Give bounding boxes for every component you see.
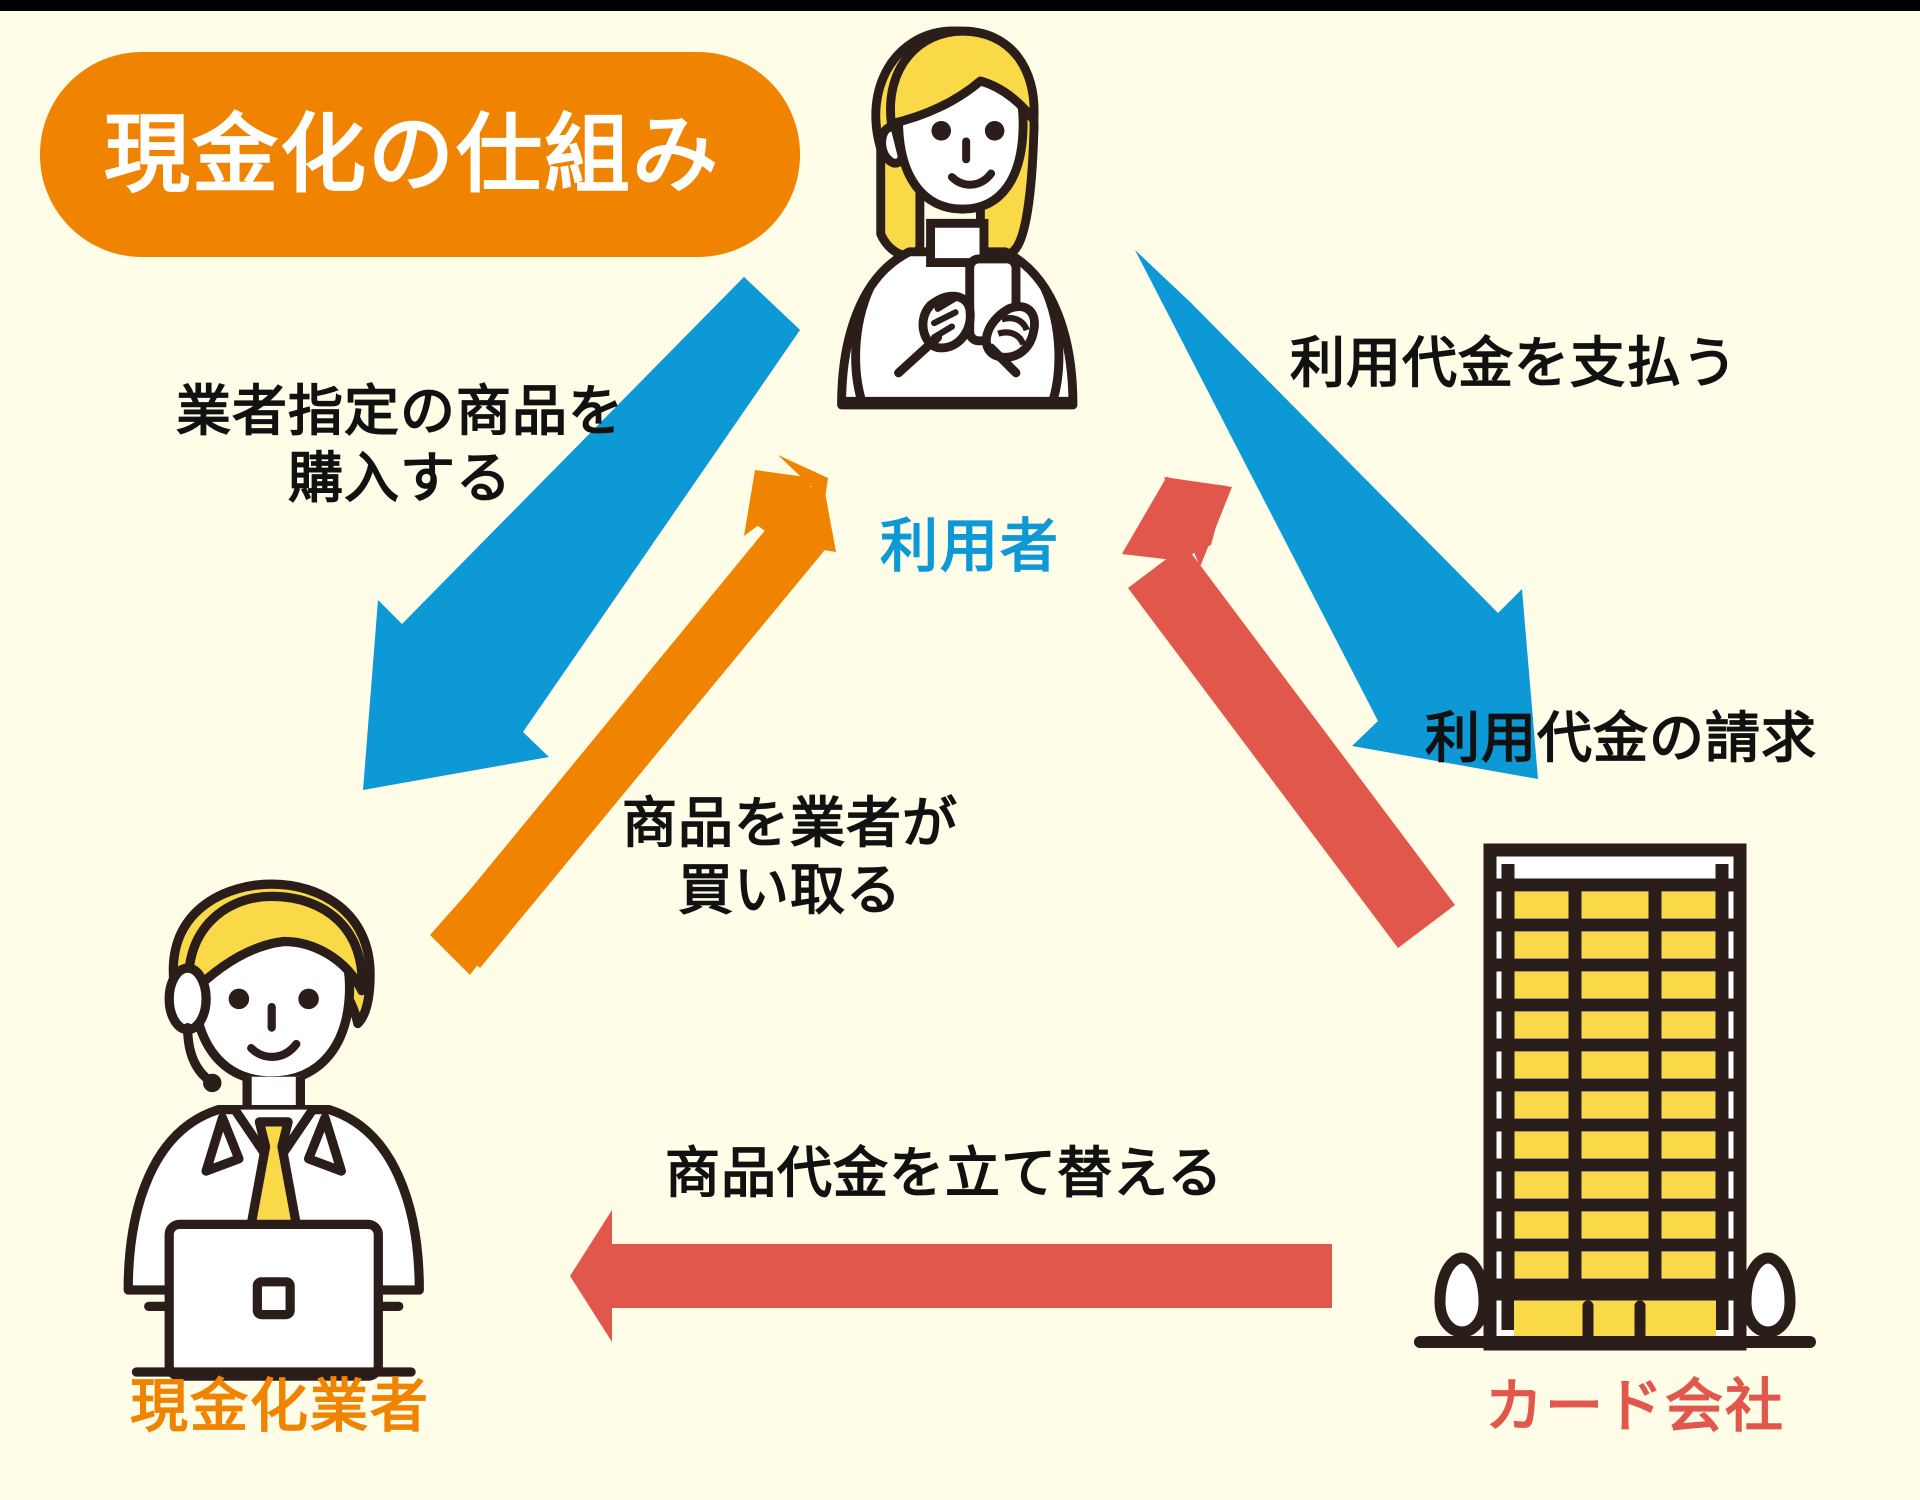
top-black-bar — [0, 0, 1920, 11]
page-title: 現金化の仕組み — [104, 112, 720, 198]
flow-label-pay-usage-fee: 利用代金を支払う — [1290, 330, 1810, 397]
node-label-user: 利用者 — [860, 518, 1080, 576]
title-badge: 現金化の仕組み — [40, 52, 800, 257]
flow-label-broker-buys-goods: 商品を業者が 買い取る — [560, 790, 1020, 924]
diagram-canvas: 現金化の仕組み 業者指定の商品を 購入する 商品を業者が 買い取る 利用代金を支… — [0, 0, 1920, 1500]
arrow-bill-usage-fee — [1122, 476, 1455, 948]
node-label-card-company: カード会社 — [1440, 1378, 1830, 1436]
flow-label-advance-goods-payment: 商品代金を立て替える — [665, 1140, 1365, 1207]
arrow-buy-designated-goods — [363, 277, 800, 790]
flow-label-buy-designated-goods: 業者指定の商品を 購入する — [150, 378, 650, 512]
node-label-cash-broker: 現金化業者 — [70, 1378, 490, 1436]
arrow-advance-goods-payment — [570, 1210, 1332, 1342]
flow-label-bill-usage-fee: 利用代金の請求 — [1425, 705, 1885, 772]
